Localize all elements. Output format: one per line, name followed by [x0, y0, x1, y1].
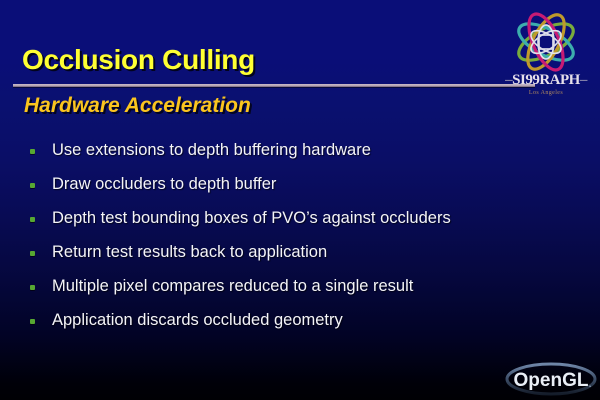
- list-item: Draw occluders to depth buffer: [30, 174, 550, 208]
- slide-subtitle: Hardware Acceleration: [24, 94, 251, 118]
- bullet-dot-icon: [30, 183, 35, 188]
- bullet-dot-icon: [30, 217, 35, 222]
- list-item: Return test results back to application: [30, 242, 550, 276]
- bullet-text: Use extensions to depth buffering hardwa…: [52, 140, 371, 160]
- bullet-dot-icon: [30, 319, 35, 324]
- bullet-dot-icon: [30, 149, 35, 154]
- title-divider-rule: [13, 84, 535, 87]
- list-item: Depth test bounding boxes of PVO’s again…: [30, 208, 550, 242]
- siggraph-dash-right: –: [580, 72, 587, 88]
- siggraph-logo: –SI99RAPH– Los Angeles: [494, 8, 598, 104]
- siggraph-wordmark-text: SI99RAPH: [512, 72, 580, 88]
- siggraph-wordmark: –SI99RAPH–: [494, 72, 598, 89]
- slide-canvas: Occlusion Culling Hardware Acceleration …: [0, 0, 600, 400]
- bullet-text: Draw occluders to depth buffer: [52, 174, 276, 194]
- bullet-text: Depth test bounding boxes of PVO’s again…: [52, 208, 451, 228]
- bullet-text: Application discards occluded geometry: [52, 310, 343, 330]
- svg-text:.: .: [588, 375, 592, 390]
- bullet-text: Return test results back to application: [52, 242, 327, 262]
- slide-title: Occlusion Culling: [22, 44, 255, 76]
- opengl-logo: OpenGL .: [505, 362, 597, 396]
- bullet-text: Multiple pixel compares reduced to a sin…: [52, 276, 413, 296]
- bullet-list: Use extensions to depth buffering hardwa…: [30, 140, 550, 344]
- list-item: Use extensions to depth buffering hardwa…: [30, 140, 550, 174]
- opengl-logo-icon: OpenGL .: [505, 362, 597, 396]
- list-item: Multiple pixel compares reduced to a sin…: [30, 276, 550, 310]
- bullet-dot-icon: [30, 251, 35, 256]
- opengl-wordmark: OpenGL: [514, 370, 589, 391]
- list-item: Application discards occluded geometry: [30, 310, 550, 344]
- bullet-dot-icon: [30, 285, 35, 290]
- siggraph-rings-icon: [494, 8, 598, 80]
- siggraph-city-label: Los Angeles: [494, 90, 598, 96]
